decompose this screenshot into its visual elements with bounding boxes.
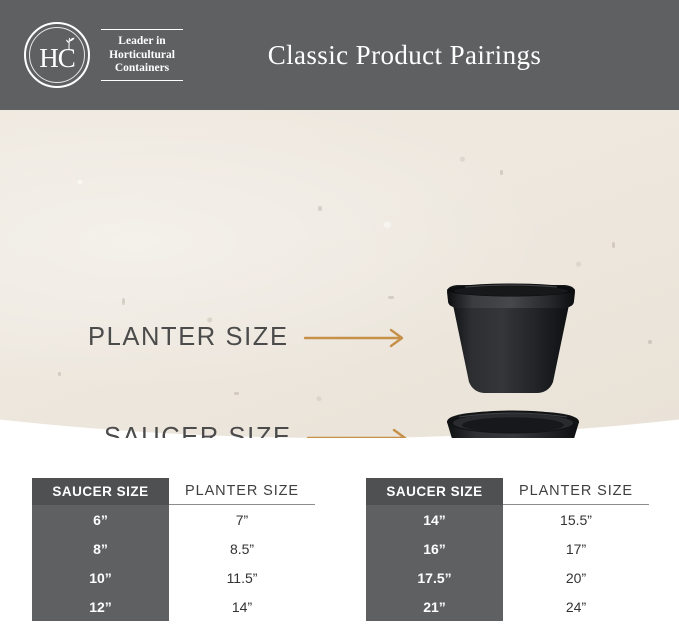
table-row: 10” 11.5” (32, 563, 315, 592)
page-title: Classic Product Pairings (0, 40, 679, 71)
cell-planter-size: 8.5” (169, 534, 315, 563)
cell-saucer-size: 17.5” (366, 563, 503, 592)
texture-speck (122, 298, 125, 305)
table-row: 21” 24” (366, 592, 649, 621)
column-header-planter-size: PLANTER SIZE (503, 478, 649, 505)
page-header: HC Leader in Horticultural Containers Cl… (0, 0, 679, 110)
texture-speck (234, 392, 239, 395)
column-header-planter-size: PLANTER SIZE (169, 478, 315, 505)
column-header-saucer-size: SAUCER SIZE (366, 478, 503, 505)
saucer-product-image (443, 406, 583, 438)
cell-saucer-size: 21” (366, 592, 503, 621)
table-row: 14” 15.5” (366, 505, 649, 534)
cell-saucer-size: 16” (366, 534, 503, 563)
table-row: 17.5” 20” (366, 563, 649, 592)
table-row: 16” 17” (366, 534, 649, 563)
cell-saucer-size: 12” (32, 592, 169, 621)
texture-speck (648, 340, 652, 344)
cell-planter-size: 7” (169, 505, 315, 534)
callout-saucer-label: SAUCER SIZE (104, 423, 292, 438)
arrow-right-icon (303, 328, 411, 348)
cell-planter-size: 14” (169, 592, 315, 621)
column-header-saucer-size: SAUCER SIZE (32, 478, 169, 505)
callout-planter-size: PLANTER SIZE (88, 323, 411, 352)
texture-speck (58, 372, 61, 376)
table-header-row: SAUCER SIZE PLANTER SIZE (366, 478, 649, 505)
texture-speck (318, 206, 322, 211)
cell-planter-size: 24” (503, 592, 649, 621)
texture-speck (500, 170, 503, 175)
cell-saucer-size: 10” (32, 563, 169, 592)
cell-saucer-size: 8” (32, 534, 169, 563)
size-table-left: SAUCER SIZE PLANTER SIZE 6” 7” 8” 8.5” 1… (32, 478, 315, 621)
cell-planter-size: 15.5” (503, 505, 649, 534)
table-row: 8” 8.5” (32, 534, 315, 563)
table-body: 14” 15.5” 16” 17” 17.5” 20” 21” 24” (366, 505, 649, 621)
callout-saucer-size: SAUCER SIZE (104, 423, 414, 438)
planter-product-image (443, 282, 579, 404)
cell-planter-size: 17” (503, 534, 649, 563)
table-header-row: SAUCER SIZE PLANTER SIZE (32, 478, 315, 505)
table-row: 6” 7” (32, 505, 315, 534)
table-row: 12” 14” (32, 592, 315, 621)
callout-planter-label: PLANTER SIZE (88, 323, 289, 352)
cell-saucer-size: 6” (32, 505, 169, 534)
texture-speck (388, 296, 394, 299)
product-stage: PLANTER SIZE SAUCER SIZE (0, 110, 679, 438)
cell-planter-size: 20” (503, 563, 649, 592)
table-body: 6” 7” 8” 8.5” 10” 11.5” 12” 14” (32, 505, 315, 621)
cell-planter-size: 11.5” (169, 563, 315, 592)
arrow-right-icon (306, 428, 414, 439)
texture-speck (612, 242, 615, 248)
cell-saucer-size: 14” (366, 505, 503, 534)
size-table-right: SAUCER SIZE PLANTER SIZE 14” 15.5” 16” 1… (366, 478, 649, 621)
